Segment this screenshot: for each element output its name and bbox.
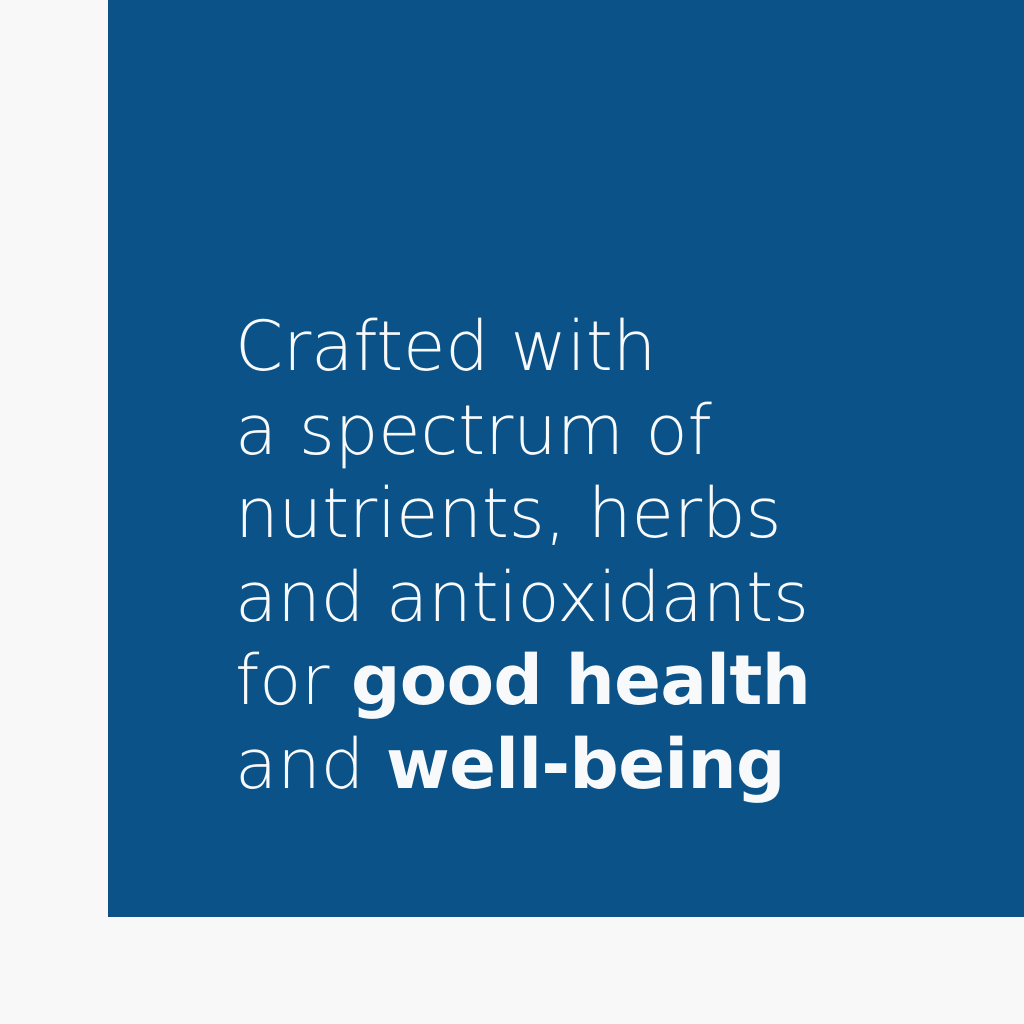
- promo-image-canvas: Crafted with a spectrum of nutrients, he…: [0, 0, 1024, 1024]
- headline-line-1-text: Crafted with: [235, 307, 656, 387]
- headline-line-4-text: and antioxidants: [235, 558, 809, 638]
- headline-line-6-light-text: and: [235, 725, 386, 805]
- blue-promo-panel: Crafted with a spectrum of nutrients, he…: [108, 0, 1024, 917]
- headline-line-3: nutrients, herbs: [235, 473, 935, 557]
- headline-line-6-bold-text: well-being: [386, 725, 785, 805]
- promo-headline: Crafted with a spectrum of nutrients, he…: [235, 306, 935, 807]
- headline-line-5: for good health: [235, 640, 935, 724]
- headline-line-6: and well-being: [235, 724, 935, 808]
- headline-line-4: and antioxidants: [235, 557, 935, 641]
- headline-line-5-light-text: for: [235, 641, 351, 721]
- headline-line-2-text: a spectrum of: [235, 391, 712, 471]
- headline-line-5-bold-text: good health: [351, 641, 810, 721]
- headline-line-1: Crafted with: [235, 306, 935, 390]
- headline-line-2: a spectrum of: [235, 390, 935, 474]
- headline-line-3-text: nutrients, herbs: [235, 474, 781, 554]
